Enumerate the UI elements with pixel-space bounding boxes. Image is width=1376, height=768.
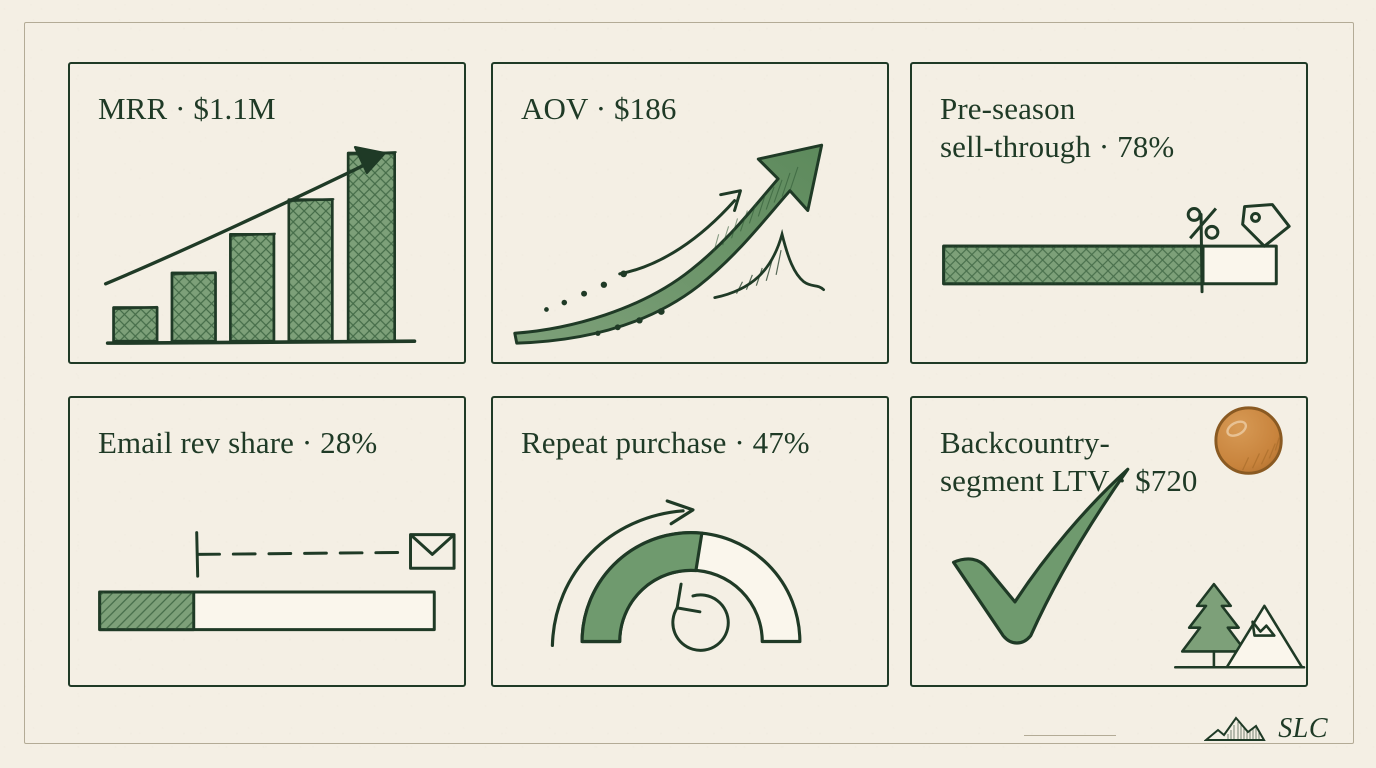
panel-title-sell-through: Pre-season sell-through · 78% <box>940 90 1286 166</box>
panel-title-aov: AOV · $186 <box>521 90 867 128</box>
panel-backcountry-ltv[interactable]: Backcountry- segment LTV · $720 <box>910 396 1308 687</box>
brand-name: SLC <box>1278 713 1328 745</box>
panel-title-mrr: MRR · $1.1M <box>98 90 444 128</box>
pine-tree-icon <box>1182 584 1245 667</box>
footer-divider <box>1024 735 1116 736</box>
panel-title-backcountry-ltv: Backcountry- segment LTV · $720 <box>940 424 1286 500</box>
mountain-icon <box>1227 606 1302 667</box>
panel-email-rev-share[interactable]: Email rev share · 28% <box>68 396 466 687</box>
panel-mrr[interactable]: MRR · $1.1M <box>68 62 466 364</box>
panel-title-repeat-purchase: Repeat purchase · 47% <box>521 424 867 462</box>
panel-title-email-rev-share: Email rev share · 28% <box>98 424 444 462</box>
panel-sell-through[interactable]: Pre-season sell-through · 78% <box>910 62 1308 364</box>
infographic-canvas: MRR · $1.1M <box>0 0 1376 768</box>
mountain-icon <box>1204 712 1266 746</box>
footer-logo: SLC <box>1204 712 1328 746</box>
panel-aov[interactable]: AOV · $186 <box>491 62 889 364</box>
panel-repeat-purchase[interactable]: Repeat purchase · 47% <box>491 396 889 687</box>
